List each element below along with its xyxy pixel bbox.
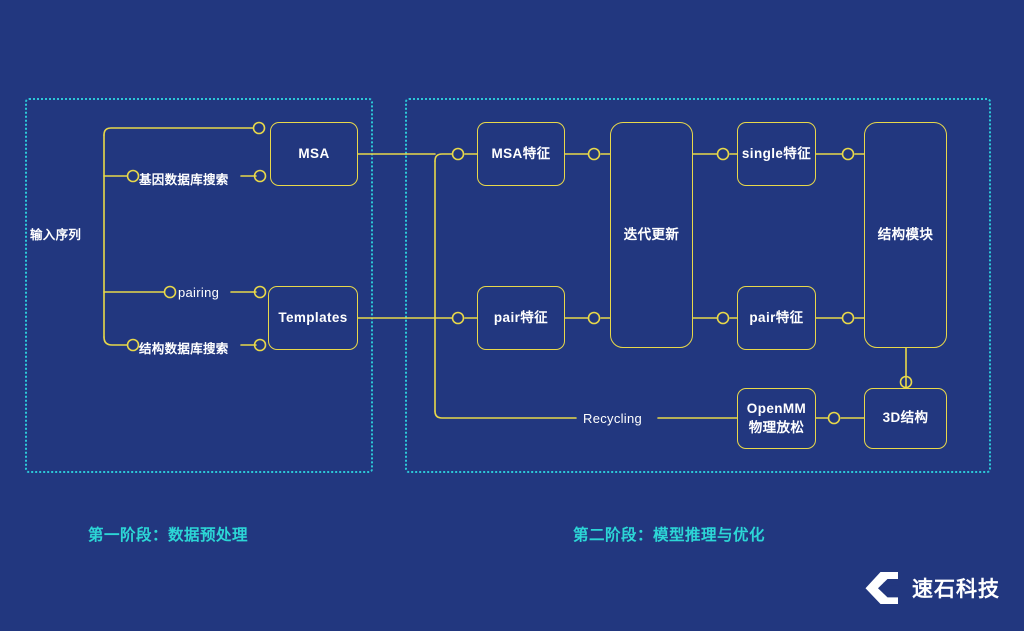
node-openmm-line2: 物理放松 — [749, 419, 805, 437]
node-structure-module[interactable]: 结构模块 — [864, 122, 947, 348]
node-openmm-relax[interactable]: OpenMM 物理放松 — [737, 388, 816, 449]
node-structure-3d[interactable]: 3D结构 — [864, 388, 947, 449]
stage2-caption: 第二阶段：模型推理与优化 — [573, 523, 765, 545]
input-sequence-label: 输入序列 — [30, 224, 81, 243]
branch-label-structure-db-search: 结构数据库搜索 — [139, 338, 229, 357]
stage1-caption: 第一阶段：数据预处理 — [88, 523, 248, 545]
node-pair-feature-in[interactable]: pair特征 — [477, 286, 565, 350]
node-openmm-line1: OpenMM — [747, 400, 806, 418]
node-msa-feature[interactable]: MSA特征 — [477, 122, 565, 186]
chevron-left-logo-icon — [862, 568, 902, 608]
diagram-canvas: 输入序列 基因数据库搜索 pairing 结构数据库搜索 MSA Templat… — [0, 0, 1024, 631]
recycling-label: Recycling — [583, 411, 642, 426]
brand-logo: 速石科技 — [862, 568, 1000, 608]
node-templates[interactable]: Templates — [268, 286, 358, 350]
brand-name: 速石科技 — [912, 573, 1000, 603]
branch-label-pairing: pairing — [178, 285, 219, 300]
node-pair-feature-out[interactable]: pair特征 — [737, 286, 816, 350]
node-iterative-update[interactable]: 迭代更新 — [610, 122, 693, 348]
node-single-feature[interactable]: single特征 — [737, 122, 816, 186]
branch-label-genome-db-search: 基因数据库搜索 — [139, 169, 229, 188]
node-msa[interactable]: MSA — [270, 122, 358, 186]
